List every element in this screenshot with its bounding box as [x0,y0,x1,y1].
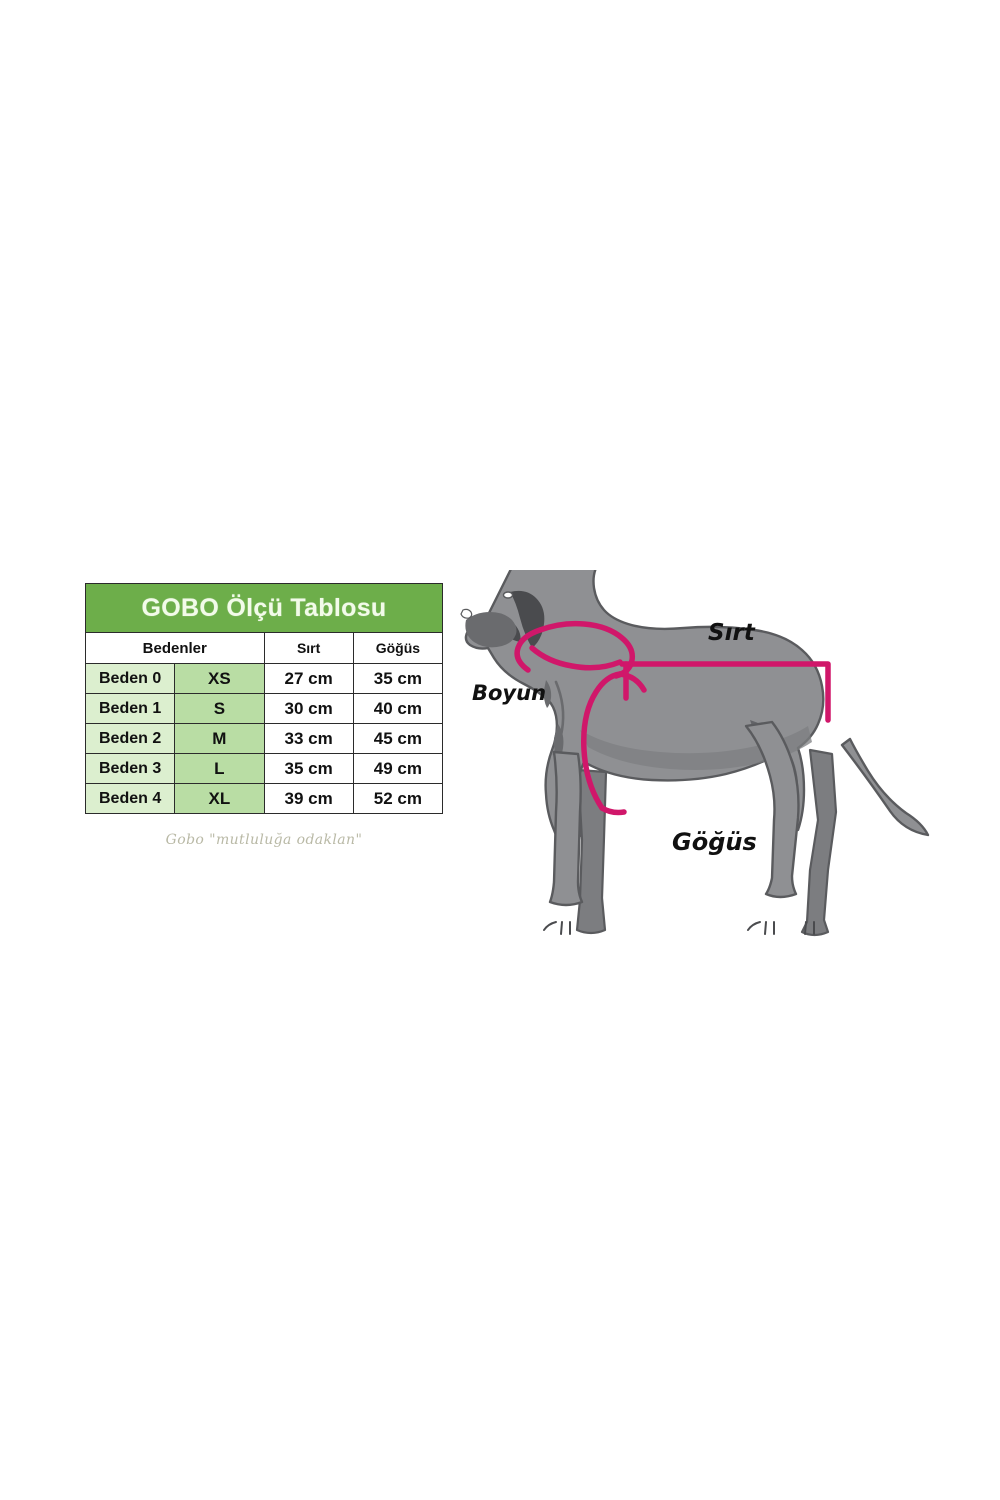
cell-chest-value: 35 cm [353,664,442,694]
cell-back-value: 33 cm [264,724,353,754]
cell-back-value: 35 cm [264,754,353,784]
size-table-block: GOBO Ölçü Tablosu Bedenler Sırt Göğüs Be… [85,583,443,814]
measurement-chart-graphic: GOBO Ölçü Tablosu Bedenler Sırt Göğüs Be… [0,0,1000,1500]
cell-chest-value: 45 cm [353,724,442,754]
table-title: GOBO Ölçü Tablosu [86,584,442,632]
dog-nose [461,609,472,618]
chest-measure-loop-bottom [602,808,624,813]
cell-size-name: Beden 3 [86,754,175,784]
table-row: Beden 4 XL 39 cm 52 cm [86,784,443,814]
table-row: Beden 3 L 35 cm 49 cm [86,754,443,784]
cell-back-value: 39 cm [264,784,353,814]
table-row: Beden 0 XS 27 cm 35 cm [86,664,443,694]
dog-tail [842,739,928,835]
cell-chest-value: 52 cm [353,784,442,814]
cell-size-code: S [175,694,264,724]
cell-size-name: Beden 4 [86,784,175,814]
cell-size-code: M [175,724,264,754]
table-header-row: Bedenler Sırt Göğüs [86,633,443,664]
cell-chest-value: 40 cm [353,694,442,724]
table-title-cell: GOBO Ölçü Tablosu [86,584,443,633]
column-header-sizes: Bedenler [86,633,265,664]
cell-size-code: XS [175,664,264,694]
cell-chest-value: 49 cm [353,754,442,784]
label-sirt: Sırt [708,620,756,646]
table-title-row: GOBO Ölçü Tablosu [86,584,443,633]
column-header-back: Sırt [264,633,353,664]
size-table: GOBO Ölçü Tablosu Bedenler Sırt Göğüs Be… [85,583,443,814]
table-caption: Gobo "mutluluğa odaklan" [85,832,443,848]
dog-illustration [461,570,928,935]
cell-back-value: 27 cm [264,664,353,694]
table-row: Beden 2 M 33 cm 45 cm [86,724,443,754]
label-boyun: Boyun [472,681,546,705]
table-row: Beden 1 S 30 cm 40 cm [86,694,443,724]
cell-size-name: Beden 0 [86,664,175,694]
dog-far-hind-leg [802,750,836,935]
cell-size-code: L [175,754,264,784]
column-header-chest: Göğüs [353,633,442,664]
dog-eye [504,592,513,598]
dog-measurement-illustration: Boyun Sırt Göğüs [450,570,950,960]
cell-size-name: Beden 1 [86,694,175,724]
cell-size-code: XL [175,784,264,814]
cell-size-name: Beden 2 [86,724,175,754]
label-gogus: Göğüs [672,828,757,856]
cell-back-value: 30 cm [264,694,353,724]
